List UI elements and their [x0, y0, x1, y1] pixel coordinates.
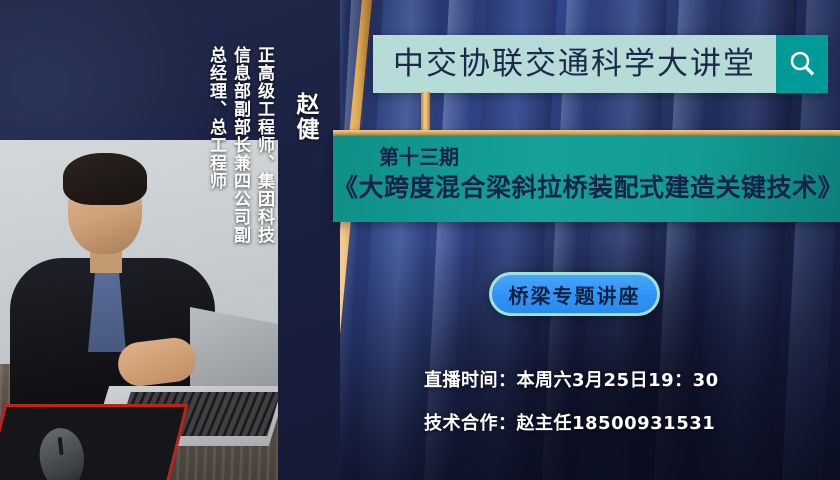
page-title: 中交协联交通科学大讲堂: [393, 49, 756, 80]
speaker-panel: 总经理、总工程师 信息部副部长兼四公司副 正高级工程师、集团科技 赵健: [0, 0, 340, 480]
speaker-title-line-3: 总经理、总工程师: [204, 46, 229, 190]
topic-badge[interactable]: 桥梁专题讲座: [489, 272, 660, 316]
topic-badge-label: 桥梁专题讲座: [509, 280, 641, 309]
search-icon: [787, 49, 817, 79]
webinar-poster: 总经理、总工程师 信息部副部长兼四公司副 正高级工程师、集团科技 赵健 中交协联…: [0, 0, 840, 480]
speaker-name: 赵健: [288, 92, 322, 142]
subtitle-band: 第十三期 《大跨度混合梁斜拉桥装配式建造关键技术》: [333, 136, 840, 222]
live-time-text: 直播时间：本周六3月25日19：30: [424, 366, 719, 392]
title-banner: 中交协联交通科学大讲堂: [373, 35, 828, 93]
issue-number: 第十三期: [379, 142, 840, 172]
gold-post: [421, 92, 430, 133]
contact-text: 技术合作：赵主任18500931531: [424, 409, 715, 435]
search-icon-box[interactable]: [776, 35, 828, 93]
lecture-title: 《大跨度混合梁斜拉桥装配式建造关键技术》: [333, 172, 840, 205]
speaker-title-line-2: 信息部副部长兼四公司副: [228, 46, 253, 244]
title-banner-body: 中交协联交通科学大讲堂: [373, 35, 776, 93]
speaker-title-line-1: 正高级工程师、集团科技: [252, 46, 277, 244]
